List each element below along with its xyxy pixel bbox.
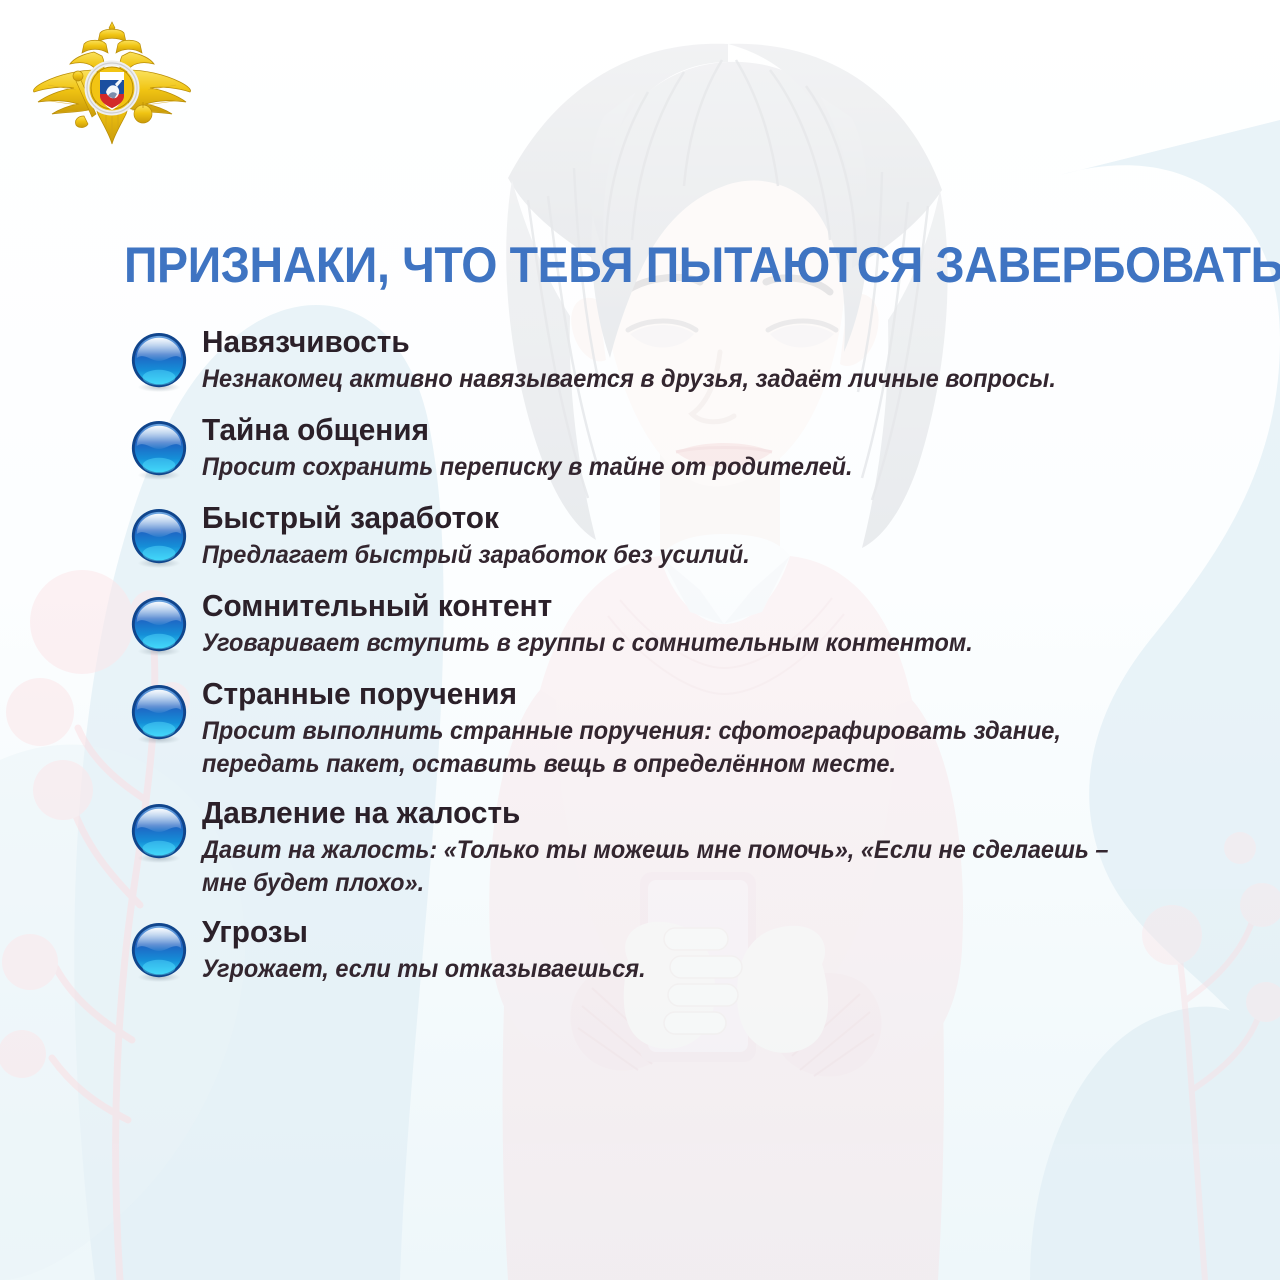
orb-bullet-icon	[128, 595, 190, 657]
orb-bullet-icon	[128, 419, 190, 481]
item-heading: Тайна общения	[202, 410, 1145, 450]
infographic-poster: ПРИЗНАКИ, ЧТО ТЕБЯ ПЫТАЮТСЯ ЗАВЕРБОВАТЬ:	[0, 0, 1280, 1280]
item-description: Просит сохранить переписку в тайне от ро…	[202, 451, 1125, 484]
item-description: Незнакомец активно навязывается в друзья…	[202, 363, 1125, 396]
orb-bullet-icon	[128, 331, 190, 393]
list-item: Сомнительный контент Уговаривает вступит…	[124, 586, 1184, 660]
list-item: Навязчивость Незнакомец активно навязыва…	[124, 322, 1184, 396]
mvd-eagle-emblem	[22, 18, 202, 148]
list-item: Странные поручения Просит выполнить стра…	[124, 674, 1184, 781]
item-description: Предлагает быстрый заработок без усилий.	[202, 539, 1125, 572]
item-description: Уговаривает вступить в группы с сомнител…	[202, 627, 1125, 660]
page-title: ПРИЗНАКИ, ЧТО ТЕБЯ ПЫТАЮТСЯ ЗАВЕРБОВАТЬ:	[124, 236, 1175, 294]
item-description: Просит выполнить странные поручения: сфо…	[202, 715, 1125, 781]
item-heading: Сомнительный контент	[202, 586, 1145, 626]
list-item: Давление на жалость Давит на жалость: «Т…	[124, 793, 1184, 900]
item-heading: Быстрый заработок	[202, 498, 1145, 538]
item-heading: Угрозы	[202, 912, 1145, 952]
orb-bullet-icon	[128, 921, 190, 983]
item-description: Угрожает, если ты отказываешься.	[202, 953, 1125, 986]
orb-bullet-icon	[128, 802, 190, 864]
warning-signs-list: Навязчивость Незнакомец активно навязыва…	[124, 322, 1184, 1000]
item-heading: Навязчивость	[202, 322, 1145, 362]
list-item: Тайна общения Просит сохранить переписку…	[124, 410, 1184, 484]
list-item: Угрозы Угрожает, если ты отказываешься.	[124, 912, 1184, 986]
item-description: Давит на жалость: «Только ты можешь мне …	[202, 834, 1125, 900]
list-item: Быстрый заработок Предлагает быстрый зар…	[124, 498, 1184, 572]
orb-bullet-icon	[128, 683, 190, 745]
orb-bullet-icon	[128, 507, 190, 569]
item-heading: Странные поручения	[202, 674, 1145, 714]
item-heading: Давление на жалость	[202, 793, 1145, 833]
